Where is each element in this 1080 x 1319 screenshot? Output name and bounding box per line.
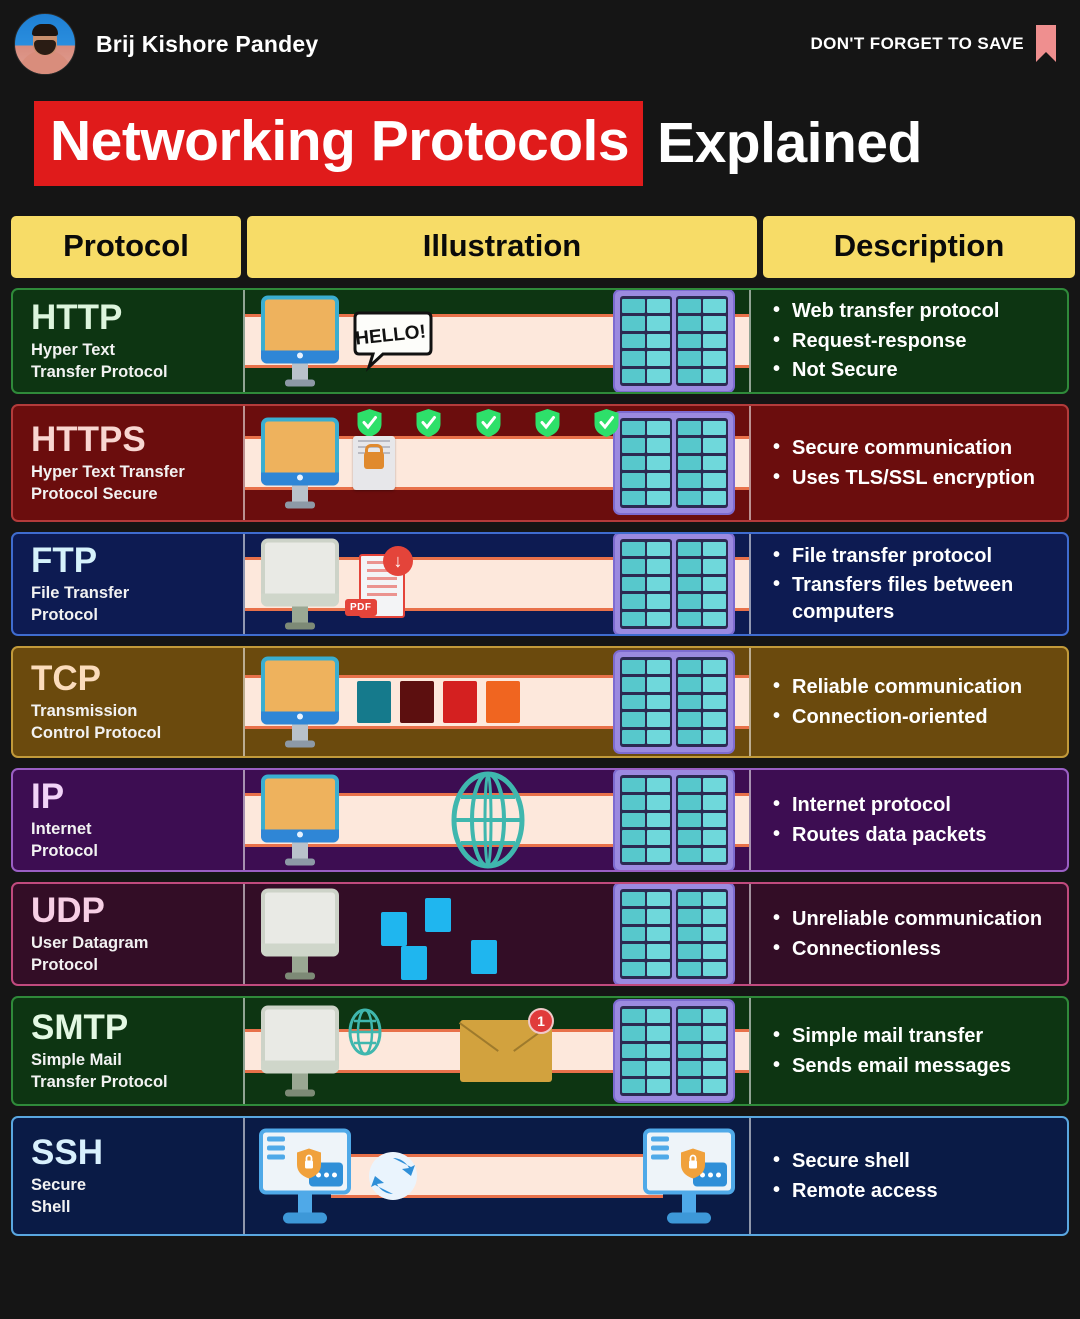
list-item: Connectionless (773, 936, 1059, 963)
envelope-icon: 1 (460, 1020, 552, 1082)
illustration-cell: 1 (243, 998, 751, 1104)
list-item: Routes data packets (773, 822, 1059, 849)
protocol-cell: UDP User Datagram Protocol (13, 884, 243, 984)
server-rack-icon (613, 289, 735, 393)
speech-bubble-icon: HELLO! (353, 309, 433, 373)
protocol-fullname-line2: Transfer Protocol (31, 1072, 243, 1094)
protocol-fullname-line1: Hyper Text (31, 340, 243, 362)
column-header-description: Description (763, 216, 1075, 278)
save-reminder: DON'T FORGET TO SAVE (810, 24, 1058, 64)
packet (381, 912, 407, 946)
description-list: Simple mail transfer Sends email message… (773, 1020, 1059, 1082)
monitor-icon (261, 889, 339, 980)
protocol-abbr: SMTP (31, 1010, 243, 1046)
protocol-abbr: HTTP (31, 300, 243, 336)
protocol-fullname-line2: Transfer Protocol (31, 362, 243, 384)
table-row: UDP User Datagram Protocol (11, 882, 1069, 986)
protocol-fullname-line2: Control Protocol (31, 723, 243, 745)
column-header-illustration: Illustration (247, 216, 757, 278)
avatar (14, 13, 76, 75)
packet (471, 940, 497, 974)
protocol-fullname-line1: Simple Mail (31, 1050, 243, 1072)
server-rack-icon (613, 882, 735, 986)
list-item: Web transfer protocol (773, 298, 1059, 325)
ordered-packets (357, 681, 520, 723)
list-item: Not Secure (773, 357, 1059, 384)
shield-lock-icon (681, 1149, 705, 1179)
list-item: Connection-oriented (773, 704, 1059, 731)
protocol-fullname-line1: Hyper Text Transfer (31, 462, 243, 484)
protocol-abbr: SSH (31, 1135, 243, 1171)
table-row: IP Internet Protocol (11, 768, 1069, 872)
monitor-icon (261, 1006, 339, 1097)
server-rack-icon (613, 650, 735, 754)
list-item: Reliable communication (773, 674, 1059, 701)
protocol-cell: SMTP Simple Mail Transfer Protocol (13, 998, 243, 1104)
protocol-fullname-line2: Protocol Secure (31, 484, 243, 506)
description-cell: File transfer protocol Transfers files b… (751, 534, 1067, 634)
illustration-cell (243, 770, 751, 870)
protocol-fullname-line1: Secure (31, 1175, 243, 1197)
shield-check-icon (535, 409, 560, 437)
protocol-fullname-line2: Protocol (31, 955, 243, 977)
unread-badge: 1 (528, 1008, 554, 1034)
protocol-fullname-line1: Internet (31, 819, 243, 841)
protocol-cell: HTTPS Hyper Text Transfer Protocol Secur… (13, 406, 243, 520)
protocol-fullname-line1: Transmission (31, 701, 243, 723)
infographic-page: Brij Kishore Pandey DON'T FORGET TO SAVE… (0, 0, 1080, 1319)
list-item: Sends email messages (773, 1053, 1059, 1080)
protocol-abbr: UDP (31, 893, 243, 929)
description-list: Internet protocol Routes data packets (773, 789, 1059, 851)
bookmark-icon[interactable] (1034, 24, 1058, 64)
description-list: Unreliable communication Connectionless (773, 903, 1059, 965)
protocol-cell: TCP Transmission Control Protocol (13, 648, 243, 756)
illustration-cell: PDF (243, 534, 751, 634)
illustration-cell (243, 406, 751, 520)
globe-icon (345, 1008, 385, 1056)
save-reminder-text: DON'T FORGET TO SAVE (810, 34, 1024, 54)
page-title: Networking Protocols Explained (34, 101, 922, 186)
list-item: Uses TLS/SSL encryption (773, 465, 1059, 492)
description-list: Secure shell Remote access (773, 1145, 1059, 1207)
list-item: Remote access (773, 1178, 1059, 1205)
title-highlight: Networking Protocols (34, 101, 643, 186)
shield-check-icon (594, 409, 619, 437)
illustration-cell (243, 1118, 751, 1234)
description-list: Secure communication Uses TLS/SSL encryp… (773, 432, 1059, 494)
protocol-cell: HTTP Hyper Text Transfer Protocol (13, 290, 243, 392)
packet (401, 946, 427, 980)
author-name: Brij Kishore Pandey (96, 31, 318, 58)
shield-check-icon (476, 409, 501, 437)
monitor-icon (261, 418, 339, 509)
list-item: Internet protocol (773, 792, 1059, 819)
monitor-icon (261, 657, 339, 748)
protocol-table: Protocol Illustration Description HTTP H… (11, 216, 1069, 1236)
avatar-hair (32, 24, 58, 36)
list-item: Secure communication (773, 435, 1059, 462)
table-row: HTTP Hyper Text Transfer Protocol HELLO! (11, 288, 1069, 394)
protocol-fullname-line1: File Transfer (31, 583, 243, 605)
illustration-cell: HELLO! (243, 290, 751, 392)
shield-row (357, 409, 619, 437)
top-bar: Brij Kishore Pandey DON'T FORGET TO SAVE (0, 0, 1080, 88)
description-cell: Secure communication Uses TLS/SSL encryp… (751, 406, 1067, 520)
description-cell: Internet protocol Routes data packets (751, 770, 1067, 870)
table-row: SMTP Simple Mail Transfer Protocol (11, 996, 1069, 1106)
list-item: File transfer protocol (773, 543, 1059, 570)
pdf-label: PDF (345, 599, 377, 616)
description-cell: Secure shell Remote access (751, 1118, 1067, 1234)
protocol-abbr: FTP (31, 543, 243, 579)
description-list: Reliable communication Connection-orient… (773, 671, 1059, 733)
globe-icon (445, 770, 531, 870)
monitor-icon (261, 296, 339, 387)
illustration-cell (243, 648, 751, 756)
protocol-fullname-line2: Shell (31, 1197, 243, 1219)
secure-terminal-icon (259, 1129, 351, 1224)
secure-terminal-icon (643, 1129, 735, 1224)
protocol-cell: FTP File Transfer Protocol (13, 534, 243, 634)
table-row: FTP File Transfer Protocol PDF (11, 532, 1069, 636)
monitor-icon (261, 539, 339, 630)
description-list: Web transfer protocol Request-response N… (773, 295, 1059, 387)
list-item: Transfers files between computers (773, 572, 1059, 625)
packet (486, 681, 520, 723)
list-item: Request-response (773, 328, 1059, 355)
table-row: SSH Secure Shell (11, 1116, 1069, 1236)
protocol-fullname-line2: Protocol (31, 841, 243, 863)
list-item: Unreliable communication (773, 906, 1059, 933)
server-rack-icon (613, 532, 735, 636)
server-rack-icon (613, 411, 735, 515)
shield-check-icon (357, 409, 382, 437)
protocol-abbr: IP (31, 779, 243, 815)
shield-lock-icon (297, 1149, 321, 1179)
packet (425, 898, 451, 932)
server-rack-icon (613, 768, 735, 872)
packet (443, 681, 477, 723)
title-plain: Explained (643, 115, 922, 172)
list-item: Simple mail transfer (773, 1023, 1059, 1050)
description-list: File transfer protocol Transfers files b… (773, 540, 1059, 629)
description-cell: Web transfer protocol Request-response N… (751, 290, 1067, 392)
table-row: HTTPS Hyper Text Transfer Protocol Secur… (11, 404, 1069, 522)
description-cell: Simple mail transfer Sends email message… (751, 998, 1067, 1104)
illustration-cell (243, 884, 751, 984)
scattered-packets (341, 884, 599, 984)
shield-check-icon (416, 409, 441, 437)
protocol-fullname-line1: User Datagram (31, 933, 243, 955)
description-cell: Unreliable communication Connectionless (751, 884, 1067, 984)
server-rack-icon (613, 999, 735, 1103)
column-header-protocol: Protocol (11, 216, 241, 278)
protocol-abbr: TCP (31, 661, 243, 697)
protocol-cell: SSH Secure Shell (13, 1118, 243, 1234)
monitor-icon (261, 775, 339, 866)
packet (357, 681, 391, 723)
packet (400, 681, 434, 723)
protocol-abbr: HTTPS (31, 422, 243, 458)
description-cell: Reliable communication Connection-orient… (751, 648, 1067, 756)
locked-document-icon (353, 436, 395, 490)
sync-refresh-icon (365, 1148, 421, 1204)
table-row: TCP Transmission Control Protocol (11, 646, 1069, 758)
download-arrow-icon (383, 546, 413, 576)
protocol-fullname-line2: Protocol (31, 605, 243, 627)
table-header-row: Protocol Illustration Description (11, 216, 1069, 278)
protocol-cell: IP Internet Protocol (13, 770, 243, 870)
pdf-download-icon: PDF (345, 546, 415, 622)
list-item: Secure shell (773, 1148, 1059, 1175)
